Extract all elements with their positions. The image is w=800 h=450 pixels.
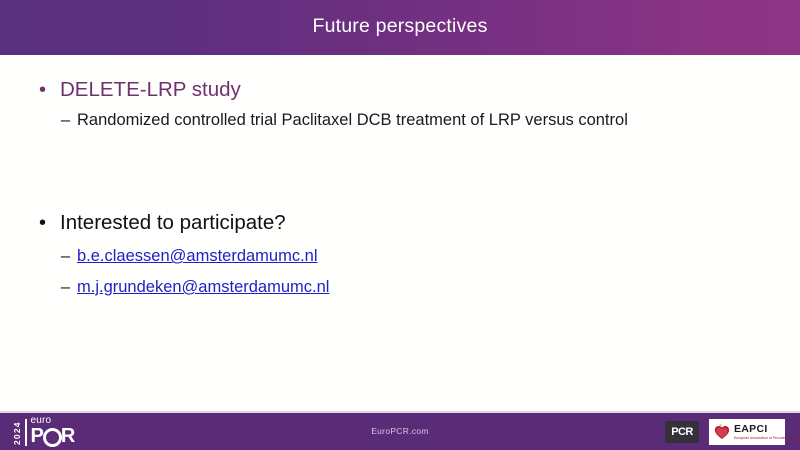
logo-pcr-ring-icon — [43, 428, 62, 447]
email-link-claessen[interactable]: b.e.claessen@amsterdamumc.nl — [70, 244, 318, 268]
bullet-heading-text: DELETE-LRP study — [46, 76, 241, 104]
eapci-name-text: EAPCI — [734, 424, 800, 435]
content-block-participate: • Interested to participate? – b.e.claes… — [0, 209, 780, 299]
bullet-item-delete-lrp-study: • DELETE-LRP study — [0, 76, 780, 104]
slide-content: • DELETE-LRP study – Randomized controll… — [0, 55, 800, 413]
email-link-grundeken[interactable]: m.j.grundeken@amsterdamumc.nl — [70, 275, 329, 299]
logo-divider — [25, 419, 27, 446]
eapci-subtitle-text: European Association of Percutaneous Car… — [734, 437, 800, 440]
eapci-text-group: EAPCI European Association of Percutaneo… — [734, 424, 800, 440]
pcr-badge-text: PCR — [671, 426, 692, 438]
sub-bullet-dash-icon: – — [0, 108, 70, 132]
page-title: Future perspectives — [312, 17, 487, 39]
sub-bullet-dash-icon: – — [0, 244, 70, 268]
sub-bullet-item-email-claessen: – b.e.claessen@amsterdamumc.nl — [0, 244, 780, 268]
sub-bullet-item-trial-description: – Randomized controlled trial Paclitaxel… — [0, 108, 780, 132]
logo-pcr-text: P R — [31, 427, 75, 446]
bullet-heading-text: Interested to participate? — [46, 209, 286, 237]
bullet-dot-icon: • — [0, 209, 46, 237]
logo-year-text: 2024 — [13, 420, 22, 446]
bullet-item-interested-to-participate: • Interested to participate? — [0, 209, 780, 237]
slide-header-bar: Future perspectives — [0, 0, 800, 55]
sub-bullet-dash-icon: – — [0, 275, 70, 299]
content-block-delete-lrp: • DELETE-LRP study – Randomized controll… — [0, 76, 780, 132]
pcr-badge: PCR — [665, 421, 699, 443]
logo-pcr-letter-p: P — [31, 427, 43, 446]
slide: Future perspectives • DELETE-LRP study –… — [0, 0, 800, 450]
logo-pcr-letter-r: R — [61, 427, 74, 446]
sub-bullet-item-email-grundeken: – m.j.grundeken@amsterdamumc.nl — [0, 275, 780, 299]
sub-bullet-text: Randomized controlled trial Paclitaxel D… — [70, 108, 628, 132]
eapci-badge: EAPCI European Association of Percutaneo… — [709, 419, 785, 445]
bullet-dot-icon: • — [0, 76, 46, 104]
logo-wordmark: euro P R — [31, 416, 75, 446]
europcr-logo: 2024 euro P R — [13, 418, 74, 446]
heart-icon — [713, 423, 731, 441]
